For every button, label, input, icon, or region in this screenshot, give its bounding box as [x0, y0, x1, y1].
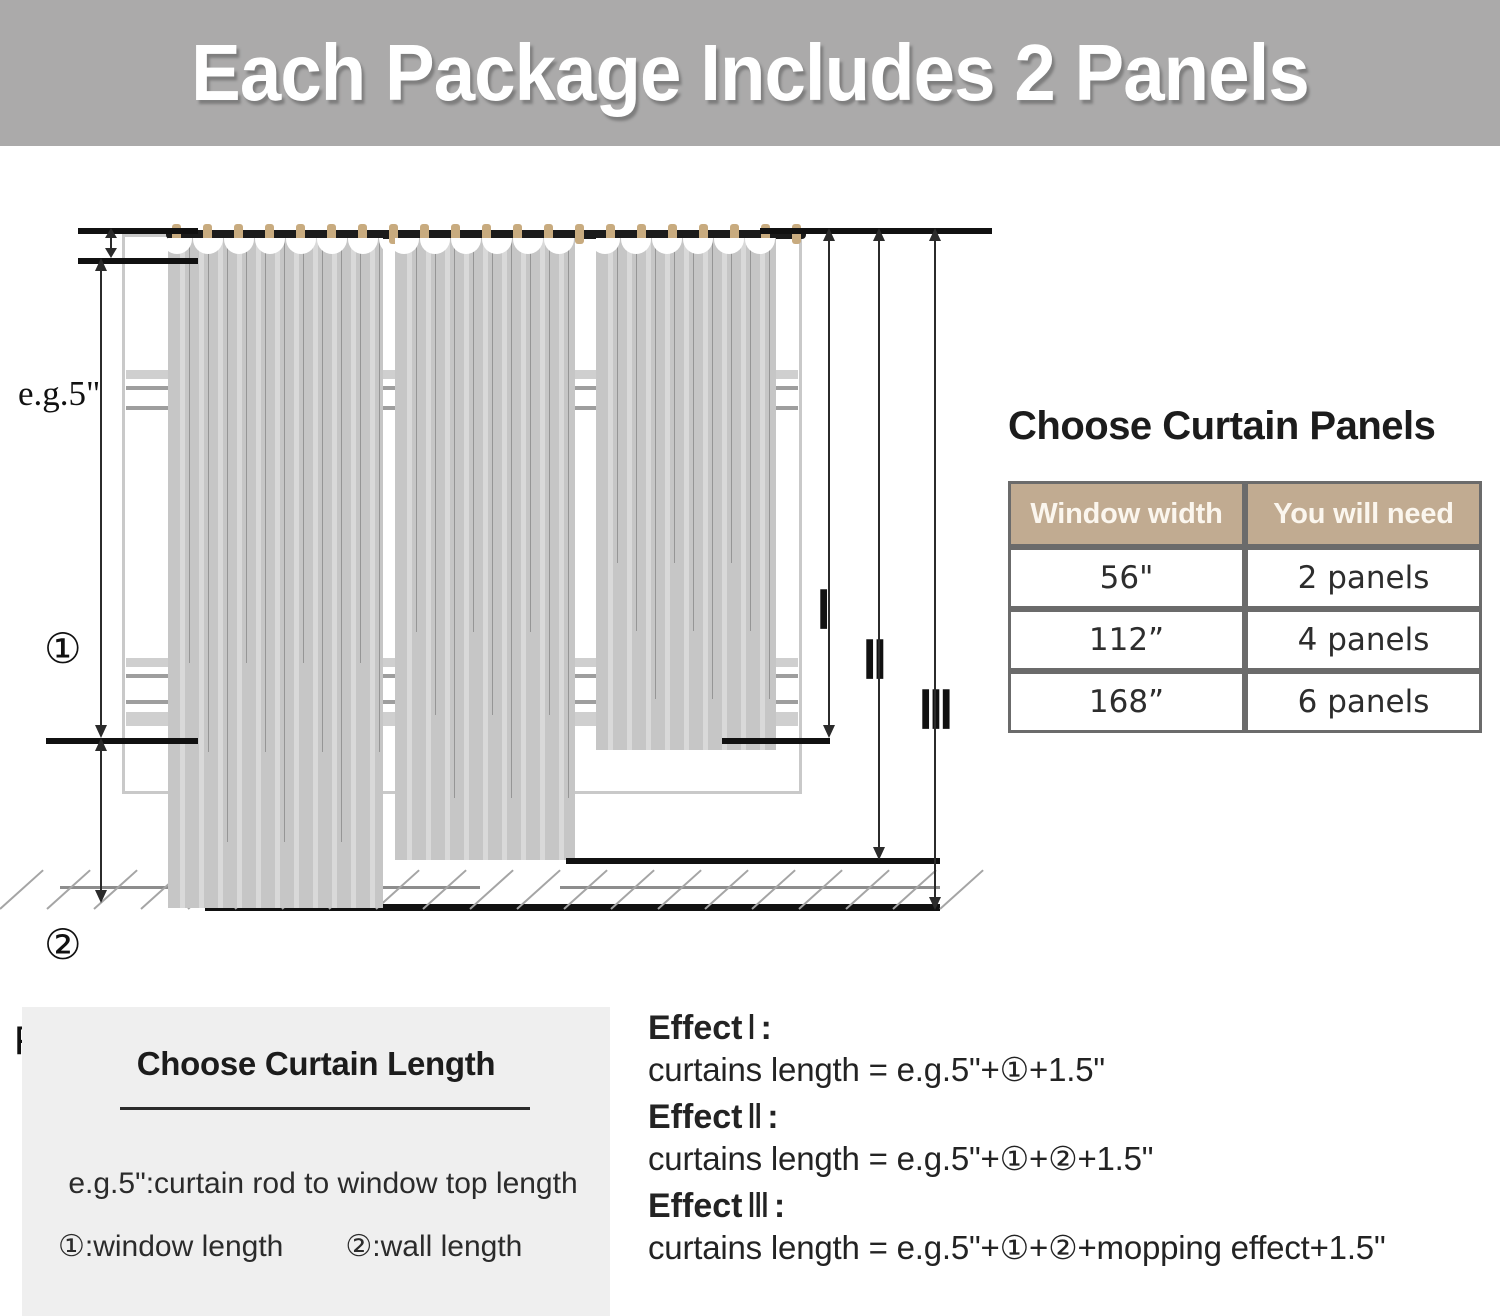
- legend-wall-length: ②:wall length: [345, 1229, 522, 1264]
- panel-pleat-highlight: [218, 238, 223, 908]
- panel-pleat-highlight: [684, 238, 689, 750]
- eg-arrow-head-up: [105, 228, 117, 238]
- panel-pleat-line: [636, 238, 637, 631]
- panel-pleat-line: [189, 238, 190, 663]
- panel-pleat-highlight: [199, 238, 204, 908]
- panel-pleat-line: [693, 238, 694, 631]
- dim-one-line: [100, 264, 102, 734]
- panel-pleat-line: [750, 238, 751, 631]
- window-bottom-tick-right: [722, 738, 830, 744]
- effect-two-arrow-down: [873, 847, 885, 860]
- effect-one-arrow-up: [823, 228, 835, 241]
- dim-one-arrow-down: [95, 725, 107, 738]
- panel-pleat-line: [568, 238, 569, 798]
- effect-three-heading: EffectⅢ:: [648, 1186, 1500, 1226]
- effect-colon: :: [767, 1098, 778, 1136]
- panel-pleat-highlight: [370, 238, 375, 908]
- panel-pleat-highlight: [407, 238, 412, 860]
- dimension-two-label: ②: [44, 924, 82, 966]
- panel-pleat-line: [435, 238, 436, 715]
- panel-pleat-line: [322, 238, 323, 752]
- panel-pleat-highlight: [559, 238, 564, 860]
- panel-pleat-highlight: [294, 238, 299, 908]
- dim-one-arrow-up: [95, 258, 107, 271]
- panels-table-heading: Choose Curtain Panels: [1008, 404, 1486, 449]
- effect-three-line: [934, 234, 936, 906]
- panel-pleat-line: [341, 238, 342, 842]
- effect-numeral: Ⅰ: [742, 1010, 760, 1047]
- panel-pleat-highlight: [627, 238, 632, 750]
- panel-pleat-line: [712, 238, 713, 699]
- effect-three-arrow-down: [929, 897, 941, 910]
- panel-pleat-line: [284, 238, 285, 842]
- curtain-measurement-diagram: Floor e.g.5" ① ② Ⅰ Ⅱ Ⅲ: [0, 146, 1000, 976]
- eg-length-label: e.g.5": [18, 374, 100, 414]
- effect-block-one: EffectⅠ: curtains length = e.g.5"+①+1.5": [648, 1008, 1500, 1089]
- cell-panels-needed: 4 panels: [1245, 609, 1482, 671]
- table-row: 168” 6 panels: [1008, 671, 1482, 733]
- panel-pleat-line: [655, 238, 656, 699]
- panel-pleat-highlight: [483, 238, 488, 860]
- panel-pleat-line: [246, 238, 247, 663]
- effect-formulas: EffectⅠ: curtains length = e.g.5"+①+1.5"…: [648, 1008, 1500, 1275]
- dim-two-line: [100, 744, 102, 900]
- effect-one-line: [828, 234, 830, 734]
- effect-label: Effect: [648, 1009, 742, 1047]
- dim-two-arrow-up: [95, 738, 107, 751]
- cell-panels-needed: 6 panels: [1245, 671, 1482, 733]
- cell-window-width: 168”: [1008, 671, 1245, 733]
- cell-window-width: 56": [1008, 547, 1245, 609]
- floor-hatch-line: [46, 869, 90, 909]
- curtain-ring: [792, 224, 801, 244]
- panel-pleat-line: [492, 238, 493, 715]
- panel-pleat-highlight: [608, 238, 613, 750]
- panel-pleat-highlight: [313, 238, 318, 908]
- rod-level-tick: [78, 228, 198, 234]
- column-header-you-will-need: You will need: [1245, 481, 1482, 547]
- effect-numeral: Ⅲ: [742, 1188, 773, 1225]
- curtain-panel-mid: [395, 238, 575, 860]
- table-row: 112” 4 panels: [1008, 609, 1482, 671]
- panel-pleat-highlight: [741, 238, 746, 750]
- effect-three-formula: curtains length = e.g.5"+①+②+mopping eff…: [648, 1228, 1500, 1267]
- panel-pleat-highlight: [445, 238, 450, 860]
- effect-two-line: [878, 234, 880, 856]
- panel-pleat-highlight: [703, 238, 708, 750]
- panel-pleat-line: [454, 238, 455, 798]
- legend-eg-description: e.g.5":curtain rod to window top length: [36, 1167, 610, 1201]
- length-box-title: Choose Curtain Length: [22, 1045, 610, 1083]
- panel-pleat-highlight: [540, 238, 545, 860]
- curtain-panel-short: [596, 238, 776, 750]
- table-row: 56" 2 panels: [1008, 547, 1482, 609]
- curtain-ring: [575, 224, 584, 244]
- panel-pleat-line: [416, 238, 417, 632]
- panel-pleat-line: [208, 238, 209, 752]
- panel-pleat-line: [303, 238, 304, 663]
- effect-label: Effect: [648, 1187, 742, 1225]
- choose-curtain-length-box: Choose Curtain Length e.g.5":curtain rod…: [22, 1007, 610, 1316]
- panel-pleat-highlight: [665, 238, 670, 750]
- panel-pleat-line: [769, 238, 770, 699]
- effect-colon: :: [774, 1187, 785, 1225]
- panel-pleat-highlight: [180, 238, 185, 908]
- panel-pleat-line: [617, 238, 618, 563]
- panel-pleat-highlight: [237, 238, 242, 908]
- floor-hatch-line: [0, 869, 44, 909]
- panel-pleat-highlight: [464, 238, 469, 860]
- effect-one-arrow-down: [823, 725, 835, 738]
- column-header-window-width: Window width: [1008, 481, 1245, 547]
- panel-pleat-highlight: [275, 238, 280, 908]
- panel-pleat-highlight: [332, 238, 337, 908]
- panel-pleat-line: [731, 238, 732, 563]
- legend-dimension-row: ①:window length ②:wall length: [36, 1229, 618, 1264]
- panels-table: Window width You will need 56" 2 panels …: [1008, 481, 1482, 733]
- panel-pleat-highlight: [646, 238, 651, 750]
- effect-block-two: EffectⅡ: curtains length = e.g.5"+①+②+1.…: [648, 1097, 1500, 1178]
- effect-one-heading: EffectⅠ:: [648, 1008, 1500, 1048]
- panel-pleat-line: [360, 238, 361, 663]
- choose-curtain-panels-section: Choose Curtain Panels Window width You w…: [1008, 404, 1486, 733]
- dimension-one-label: ①: [44, 628, 82, 670]
- panel-pleat-line: [379, 238, 380, 752]
- panel-pleat-line: [511, 238, 512, 798]
- panel-pleat-line: [265, 238, 266, 752]
- page-title: Each Package Includes 2 Panels: [53, 0, 1448, 146]
- cell-window-width: 112”: [1008, 609, 1245, 671]
- panel-pleat-highlight: [426, 238, 431, 860]
- curtain-panel-long: [168, 238, 383, 908]
- dim-two-arrow-down: [95, 890, 107, 903]
- effect-two-formula: curtains length = e.g.5"+①+②+1.5": [648, 1139, 1500, 1178]
- effect-block-three: EffectⅢ: curtains length = e.g.5"+①+②+mo…: [648, 1186, 1500, 1267]
- effect-one-formula: curtains length = e.g.5"+①+1.5": [648, 1050, 1500, 1089]
- effect-two-heading: EffectⅡ:: [648, 1097, 1500, 1137]
- eg-arrow-head-down: [105, 248, 117, 258]
- floor-line-right: [560, 886, 940, 889]
- panel-pleat-highlight: [722, 238, 727, 750]
- panel-pleat-line: [473, 238, 474, 632]
- divider: [120, 1107, 530, 1110]
- panel-pleat-highlight: [502, 238, 507, 860]
- panel-pleat-highlight: [256, 238, 261, 908]
- header-banner: Each Package Includes 2 Panels: [0, 0, 1500, 146]
- panel-pleat-highlight: [521, 238, 526, 860]
- effect-two-label: Ⅱ: [862, 636, 888, 688]
- window-bottom-tick: [46, 738, 198, 744]
- panel-pleat-line: [227, 238, 228, 842]
- effect-numeral: Ⅱ: [742, 1099, 767, 1136]
- panel-pleat-line: [674, 238, 675, 563]
- panel-pleat-highlight: [760, 238, 765, 750]
- table-header-row: Window width You will need: [1008, 481, 1482, 547]
- panel-pleat-line: [549, 238, 550, 715]
- legend-window-length: ①:window length: [58, 1229, 283, 1264]
- floor-hatch-line: [939, 869, 983, 909]
- cell-panels-needed: 2 panels: [1245, 547, 1482, 609]
- panel-pleat-line: [530, 238, 531, 632]
- effect-label: Effect: [648, 1098, 742, 1136]
- effect-colon: :: [761, 1009, 772, 1047]
- effect-three-arrow-up: [929, 228, 941, 241]
- panel-pleat-highlight: [351, 238, 356, 908]
- effect-two-arrow-up: [873, 228, 885, 241]
